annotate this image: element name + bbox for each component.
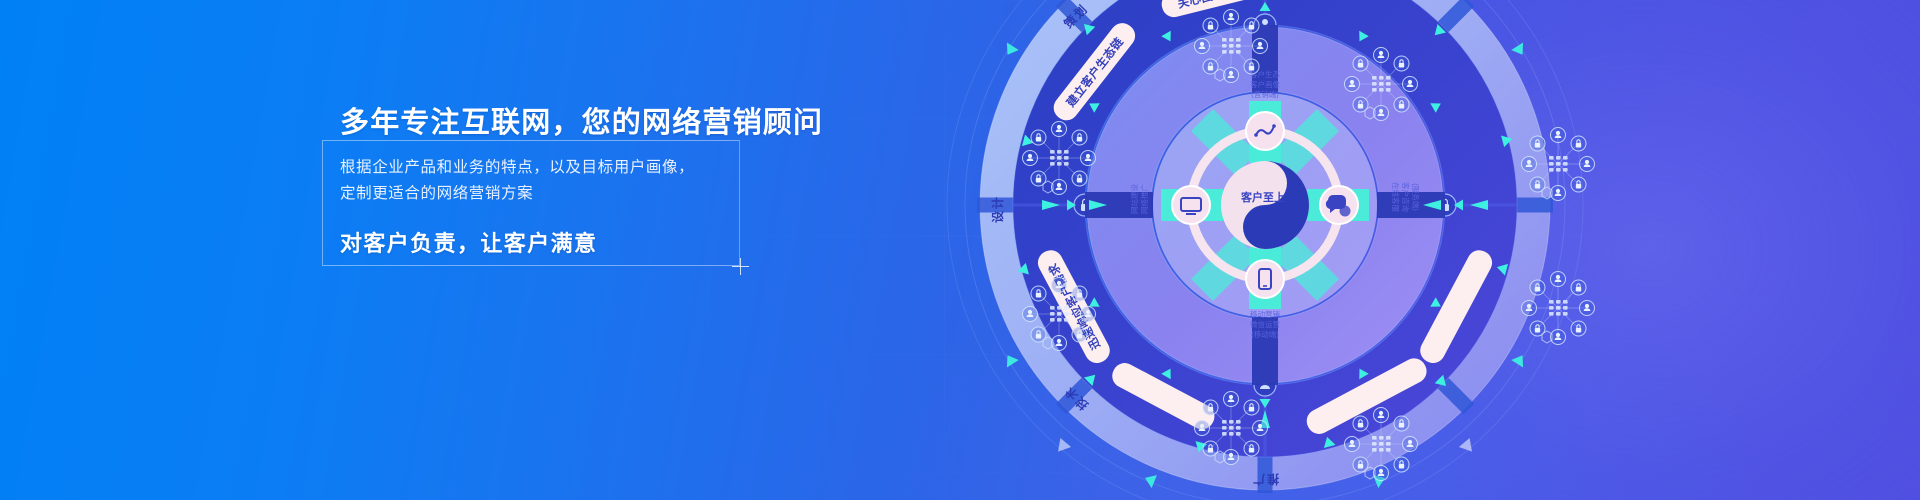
user-icon bbox=[1224, 10, 1239, 25]
svg-text:(服务端): (服务端) bbox=[1411, 183, 1421, 211]
user-icon bbox=[1052, 278, 1067, 293]
outer-label-sheji: 设计 bbox=[990, 195, 1005, 223]
hub-satellite-chart bbox=[1246, 112, 1284, 150]
lock-icon bbox=[1394, 56, 1409, 71]
user-icon bbox=[1551, 128, 1566, 143]
user-icon bbox=[1195, 39, 1210, 54]
user-icon bbox=[1224, 68, 1239, 83]
cluster-bottom-2 bbox=[1335, 398, 1427, 490]
svg-text:网络推广: 网络推广 bbox=[1139, 184, 1149, 214]
plus-marker-icon bbox=[732, 258, 749, 275]
grid-icon bbox=[1050, 306, 1069, 322]
svg-text:(移动端): (移动端) bbox=[1251, 329, 1279, 339]
lock-icon bbox=[1244, 59, 1259, 74]
yin-yang-icon bbox=[1221, 161, 1309, 249]
grid-icon bbox=[1549, 300, 1568, 316]
lock-icon bbox=[1394, 416, 1409, 431]
user-icon bbox=[1374, 466, 1389, 481]
grid-icon bbox=[1372, 436, 1391, 452]
lock-icon bbox=[1072, 286, 1087, 301]
lock-icon bbox=[1203, 400, 1218, 415]
cluster-top bbox=[1185, 0, 1277, 92]
hero-tagline: 对客户负责，让客户满意 bbox=[340, 226, 800, 258]
hero-subtext-line1: 根据企业产品和业务的特点，以及目标用户画像， bbox=[340, 155, 800, 180]
hub-satellite-monitor bbox=[1172, 186, 1210, 224]
lock-icon bbox=[1244, 18, 1259, 33]
user-icon bbox=[1522, 301, 1537, 316]
svg-text:客户咨询: 客户咨询 bbox=[1401, 182, 1411, 212]
user-icon bbox=[1580, 301, 1595, 316]
lock-icon bbox=[1530, 136, 1545, 151]
user-icon bbox=[1052, 336, 1067, 351]
grid-icon bbox=[1549, 156, 1568, 172]
lock-icon bbox=[1203, 18, 1218, 33]
user-icon bbox=[1023, 151, 1038, 166]
lock-icon bbox=[1353, 416, 1368, 431]
user-icon bbox=[1023, 307, 1038, 322]
outer-label-tuiguang: 推广 bbox=[1251, 472, 1279, 487]
user-icon bbox=[1253, 39, 1268, 54]
lock-icon bbox=[1394, 97, 1409, 112]
lock-icon bbox=[1244, 441, 1259, 456]
user-icon bbox=[1374, 408, 1389, 423]
user-icon bbox=[1580, 157, 1595, 172]
hub-satellite-phone bbox=[1246, 260, 1284, 298]
cluster-right bbox=[1512, 118, 1604, 210]
user-icon bbox=[1224, 392, 1239, 407]
grid-icon bbox=[1372, 76, 1391, 92]
hub-satellite-chat bbox=[1320, 186, 1358, 224]
cluster-bottom-left bbox=[1013, 268, 1105, 360]
lock-icon bbox=[1072, 327, 1087, 342]
user-icon bbox=[1403, 437, 1418, 452]
cluster-left bbox=[1013, 112, 1105, 204]
user-icon bbox=[1195, 421, 1210, 436]
svg-text:在线客服: 在线客服 bbox=[1391, 182, 1401, 212]
lock-icon bbox=[1571, 136, 1586, 151]
lock-icon bbox=[1244, 400, 1259, 415]
hero-subtext-line2: 定制更适合的网络营销方案 bbox=[340, 181, 800, 206]
lock-icon bbox=[1571, 321, 1586, 336]
user-icon bbox=[1345, 77, 1360, 92]
cluster-bottom-right bbox=[1512, 262, 1604, 354]
grid-icon bbox=[1222, 420, 1241, 436]
hero-copy-panel: 多年专注互联网，您的网络营销顾问 根据企业产品和业务的特点，以及目标用户画像， … bbox=[322, 140, 742, 268]
lock-icon bbox=[1353, 56, 1368, 71]
cluster-bottom bbox=[1185, 382, 1277, 474]
lock-icon bbox=[1072, 171, 1087, 186]
user-icon bbox=[1522, 157, 1537, 172]
user-icon bbox=[1081, 151, 1096, 166]
lock-icon bbox=[1530, 280, 1545, 295]
svg-text:微信运营: 微信运营 bbox=[1250, 319, 1280, 329]
lock-icon bbox=[1031, 286, 1046, 301]
svg-text:移动营销: 移动营销 bbox=[1250, 309, 1280, 319]
user-icon bbox=[1224, 450, 1239, 465]
page-title: 多年专注互联网，您的网络营销顾问 bbox=[340, 108, 800, 138]
cluster-top-right bbox=[1335, 38, 1427, 130]
user-icon bbox=[1374, 106, 1389, 121]
hero-copy-text: 多年专注互联网，您的网络营销顾问 根据企业产品和业务的特点，以及目标用户画像， … bbox=[340, 108, 800, 258]
svg-text:网站建设: 网站建设 bbox=[1129, 184, 1139, 214]
lock-icon bbox=[1571, 280, 1586, 295]
grid-icon bbox=[1222, 38, 1241, 54]
hero-subtext: 根据企业产品和业务的特点，以及目标用户画像， 定制更适合的网络营销方案 bbox=[340, 155, 800, 205]
lock-icon bbox=[1031, 130, 1046, 145]
hub-label: 客户至上 bbox=[1240, 190, 1285, 204]
lock-icon bbox=[1571, 177, 1586, 192]
banner-stage: 多年专注互联网，您的网络营销顾问 根据企业产品和业务的特点，以及目标用户画像， … bbox=[0, 0, 1920, 500]
lock-icon bbox=[1072, 130, 1087, 145]
grid-icon bbox=[1050, 150, 1069, 166]
user-icon bbox=[1374, 48, 1389, 63]
user-icon bbox=[1052, 180, 1067, 195]
user-icon bbox=[1403, 77, 1418, 92]
user-icon bbox=[1551, 272, 1566, 287]
user-icon bbox=[1253, 421, 1268, 436]
user-icon bbox=[1052, 122, 1067, 137]
lock-icon bbox=[1394, 457, 1409, 472]
user-icon bbox=[1345, 437, 1360, 452]
user-icon bbox=[1551, 186, 1566, 201]
user-icon bbox=[1551, 330, 1566, 345]
user-icon bbox=[1081, 307, 1096, 322]
